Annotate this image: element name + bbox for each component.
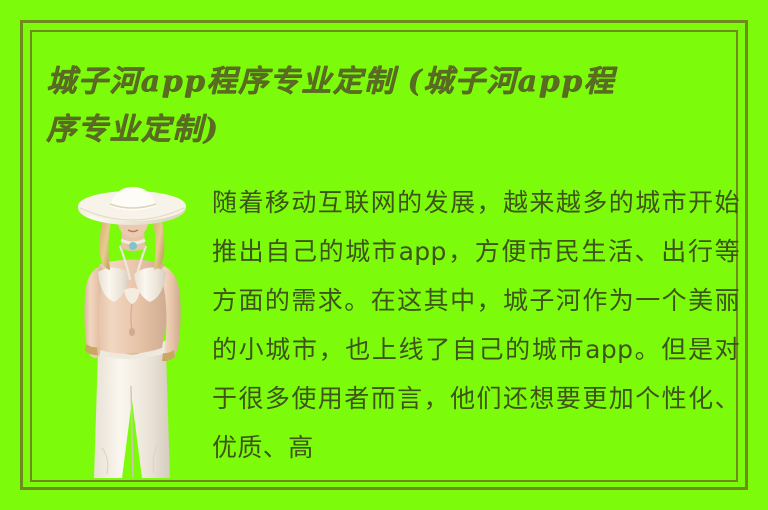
article-body-text: 随着移动互联网的发展，越来越多的城市开始推出自己的城市app，方便市民生活、出行… [212,178,740,478]
figure-graphic [62,186,202,478]
article-page: 城子河app程序专业定制 (城子河app程 序专业定制) [0,0,768,510]
page-title: 城子河app程序专业定制 (城子河app程 序专业定制) [46,58,726,154]
article-illustration [62,186,202,478]
